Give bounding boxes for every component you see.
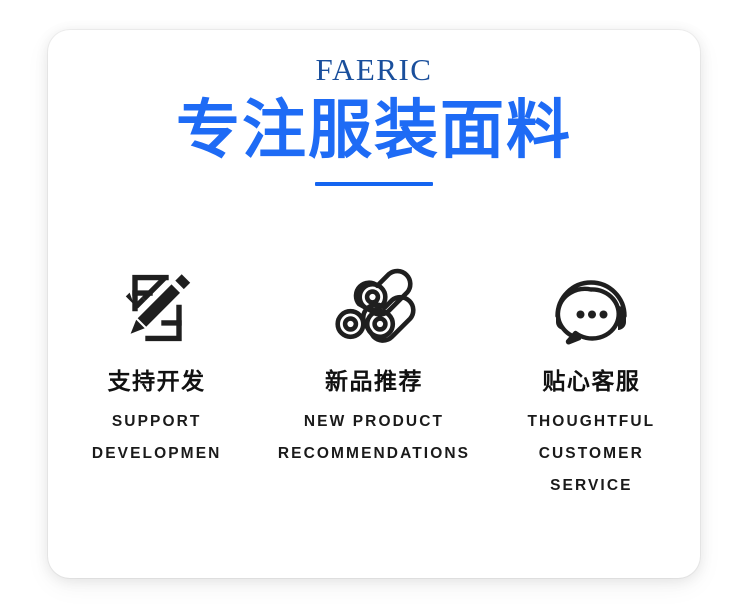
feature-title: 贴心客服 <box>542 368 640 395</box>
feature-subtitle-line: SUPPORT <box>92 406 222 438</box>
feature-item-new-product: 新品推荐 NEW PRODUCT RECOMMENDATIONS <box>265 258 482 470</box>
feature-subtitle-line: NEW PRODUCT <box>278 406 470 438</box>
feature-list: 支持开发 SUPPORT DEVELOPMEN <box>48 258 700 501</box>
feature-subtitle-line: CUSTOMER <box>527 438 655 470</box>
feature-title: 支持开发 <box>108 368 206 395</box>
feature-item-support-development: 支持开发 SUPPORT DEVELOPMEN <box>48 258 265 470</box>
pencil-ruler-icon <box>107 258 207 358</box>
feature-subtitle-line: SERVICE <box>527 470 655 502</box>
card-header: FAERIC 专注服装面料 <box>48 54 700 186</box>
feature-subtitle-line: THOUGHTFUL <box>527 406 655 438</box>
headset-chat-icon <box>541 258 641 358</box>
feature-subtitle-line: DEVELOPMEN <box>92 438 222 470</box>
feature-subtitle-line: RECOMMENDATIONS <box>278 438 470 470</box>
feature-item-customer-service: 贴心客服 THOUGHTFUL CUSTOMER SERVICE <box>483 258 700 501</box>
brand-name: FAERIC <box>48 54 700 85</box>
promo-card: FAERIC 专注服装面料 <box>48 30 700 578</box>
page-root: FAERIC 专注服装面料 <box>0 0 750 615</box>
feature-subtitle: THOUGHTFUL CUSTOMER SERVICE <box>527 406 655 501</box>
divider-container <box>48 182 700 186</box>
headline-text: 专注服装面料 <box>48 97 700 165</box>
fabric-rolls-icon <box>324 258 424 358</box>
feature-subtitle: SUPPORT DEVELOPMEN <box>92 406 222 470</box>
feature-title: 新品推荐 <box>325 368 423 395</box>
header-divider <box>315 182 433 186</box>
feature-subtitle: NEW PRODUCT RECOMMENDATIONS <box>278 406 470 470</box>
